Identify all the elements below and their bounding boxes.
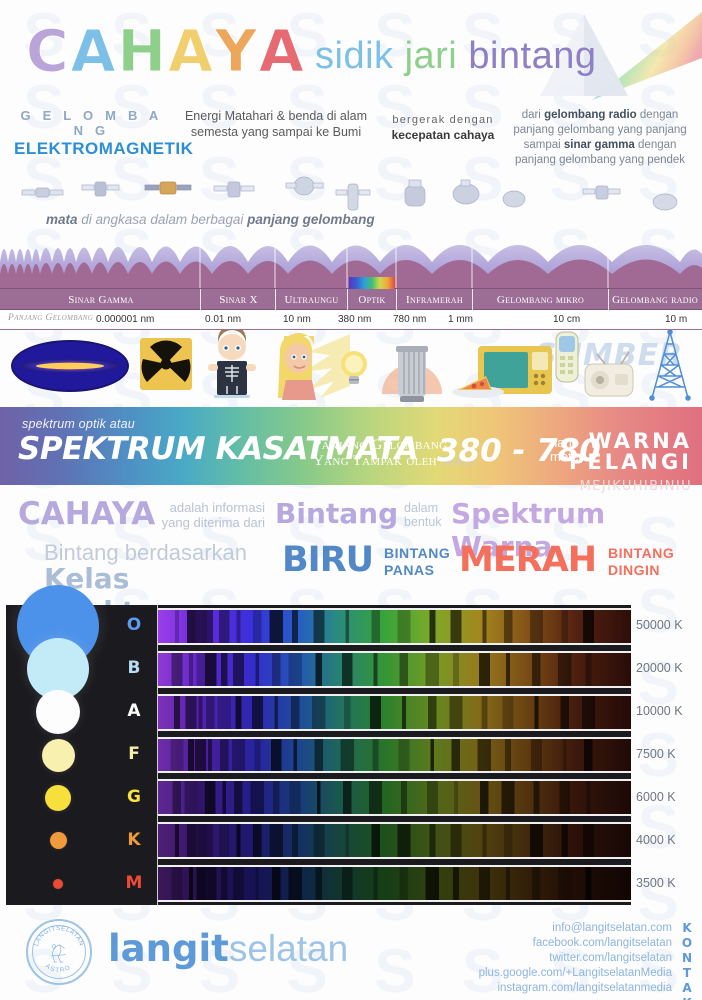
em-band-divider bbox=[396, 289, 397, 311]
em-band-ultraungu[interactable]: Ultraungu bbox=[276, 289, 347, 311]
langitselatan-seal-logo: LANGITSELATAN ASTRO bbox=[26, 919, 92, 985]
title-letter: A bbox=[259, 22, 306, 80]
mata-angkasa-caption: mata di angkasa dalam berbagai panjang g… bbox=[46, 212, 375, 227]
star-disc-K bbox=[50, 832, 67, 849]
subtitle-word: sidik bbox=[315, 35, 405, 77]
title-letter: H bbox=[117, 22, 168, 80]
bintang-panas-label: BINTANG PANAS bbox=[384, 545, 450, 579]
em-band-sinar-gamma[interactable]: Sinar Gamma bbox=[2, 289, 200, 311]
contact-list[interactable]: info@langitselatan.comfacebook.com/langi… bbox=[479, 921, 672, 996]
subtitle-word: jari bbox=[405, 35, 469, 77]
intro-text-row: G E L O M B A N G ELEKTROMAGNETIK Energi… bbox=[0, 104, 702, 176]
spectral-class-column: OBAFGKM bbox=[110, 605, 158, 905]
speed-line2: kecepatan cahaya bbox=[383, 128, 503, 143]
kontak-letter: A bbox=[678, 981, 696, 996]
radio-desc-line: panjang gelombang yang panjang bbox=[505, 123, 695, 138]
wavelength-value: 10 m bbox=[665, 314, 687, 325]
sunbathing-woman-icon bbox=[278, 333, 350, 400]
microwave-oven-icon bbox=[452, 346, 552, 398]
wavelength-value: 1 mm bbox=[448, 314, 473, 325]
page-header: CAHAYA sidik jari bintang bbox=[0, 0, 702, 100]
spectrum-strip-F[interactable] bbox=[158, 737, 631, 774]
info-dalam-bentuk: dalam bentuk bbox=[404, 501, 442, 529]
radio-receiver-icon bbox=[585, 352, 633, 396]
kontak-letter: T bbox=[678, 966, 696, 981]
page-title: CAHAYA bbox=[26, 22, 306, 80]
panjang-gelombang-word: panjang gelombang bbox=[247, 212, 375, 227]
contact-link[interactable]: twitter.com/langitselatan bbox=[479, 951, 672, 966]
em-band-divider bbox=[200, 289, 201, 311]
em-band-divider bbox=[608, 289, 609, 311]
kontak-letter: K bbox=[678, 921, 696, 936]
energy-description: Energi Matahari & benda di alam semesta … bbox=[176, 108, 376, 140]
wavelength-value: 0.01 nm bbox=[205, 314, 241, 325]
wavelength-value: 10 nm bbox=[283, 314, 311, 325]
svg-text:LANGITSELATAN: LANGITSELATAN bbox=[33, 925, 85, 947]
wavelength-value: 0.000001 nm bbox=[96, 314, 154, 325]
seal-bottom-text: ASTRO bbox=[44, 963, 72, 974]
em-band-gelombang-mikro[interactable]: Gelombang mikro bbox=[473, 289, 608, 311]
spectrum-strip-O[interactable] bbox=[158, 608, 631, 645]
electromagnetic-heading: G E L O M B A N G ELEKTROMAGNETIK bbox=[14, 108, 169, 159]
light-info-row: CAHAYA adalah informasi yang diterima da… bbox=[0, 494, 702, 542]
title-cahaya: CAHAYA bbox=[26, 22, 306, 80]
absorption-lines bbox=[158, 781, 631, 814]
spectral-class-F: F bbox=[110, 744, 158, 764]
adalah-line2: yang diterima dari bbox=[157, 515, 265, 530]
warna-line2: PELANGI bbox=[569, 452, 692, 473]
heater-icon bbox=[382, 346, 442, 402]
rainbow-color-label: WARNA PELANGI MEJIKUHIBINIU bbox=[569, 431, 692, 497]
absorption-lines bbox=[158, 824, 631, 857]
spectrum-strip-B[interactable] bbox=[158, 651, 631, 688]
spectral-class-A: A bbox=[110, 701, 158, 721]
mata-mid: di angkasa dalam berbagai bbox=[78, 212, 248, 227]
radio-gamma-description: dari gelombang radio denganpanjang gelom… bbox=[505, 108, 695, 168]
visible-spectrum-small-label: spektrum optik atau bbox=[22, 417, 135, 431]
temperature-label-A: 10000 K bbox=[636, 704, 700, 718]
mata-word: mata bbox=[46, 212, 78, 227]
visible-spectrum-banner: spektrum optik atau SPEKTRUM KASATMATA P… bbox=[0, 407, 702, 485]
mobile-phone-icon bbox=[556, 332, 578, 382]
source-icons-row bbox=[0, 330, 702, 402]
subtitle-word: bintang bbox=[468, 35, 596, 77]
title-letter: A bbox=[71, 22, 118, 80]
title-letter: C bbox=[26, 22, 71, 80]
star-disc-M bbox=[53, 879, 63, 889]
em-band-divider bbox=[472, 289, 473, 311]
spectral-class-G: G bbox=[110, 787, 158, 807]
info-cahaya: CAHAYA bbox=[18, 496, 155, 532]
kontak-letter: N bbox=[678, 951, 696, 966]
title-letter: A bbox=[168, 22, 215, 80]
em-band-inframerah[interactable]: Inframerah bbox=[397, 289, 472, 311]
logo-light: selatan bbox=[229, 928, 348, 969]
contact-link[interactable]: plus.google.com/+LangitselatanMedia bbox=[479, 966, 672, 981]
radio-desc-line: dari gelombang radio dengan bbox=[505, 108, 695, 123]
star-disc-F bbox=[42, 739, 75, 772]
radio-desc-line: panjang gelombang yang pendek bbox=[505, 153, 695, 168]
bp-line1: BINTANG bbox=[384, 545, 450, 562]
adalah-line1: adalah informasi bbox=[157, 500, 265, 515]
dalam-line2: bentuk bbox=[404, 515, 442, 529]
info-adalah: adalah informasi yang diterima dari bbox=[157, 500, 265, 530]
spectral-class-M: M bbox=[110, 873, 158, 893]
absorption-lines bbox=[158, 739, 631, 772]
temperature-label-F: 7500 K bbox=[636, 747, 700, 761]
info-bintang: Bintang bbox=[275, 497, 398, 530]
absorption-lines bbox=[158, 653, 631, 686]
spectrum-strip-G[interactable] bbox=[158, 779, 631, 816]
infographic-page: SSSSSSSSSSSSSSSSSSSSSSSSSSSSSSSSSSSSSSSS… bbox=[0, 0, 702, 1000]
radio-tower-icon bbox=[650, 330, 690, 400]
optical-rainbow-chip bbox=[349, 277, 395, 289]
temperature-label-M: 3500 K bbox=[636, 876, 700, 890]
em-heading-line1: G E L O M B A N G bbox=[14, 108, 169, 138]
radio-desc-line: sampai sinar gamma dengan bbox=[505, 138, 695, 153]
page-subtitle: sidik jari bintang bbox=[315, 34, 596, 78]
wavelength-scale-row: Panjang Gelombang 0.000001 nm0.01 nm10 n… bbox=[0, 310, 702, 330]
contact-link[interactable]: info@langitselatan.com bbox=[479, 921, 672, 936]
temperature-label-G: 6000 K bbox=[636, 790, 700, 804]
kontak-vertical-label: KONTAK bbox=[678, 921, 696, 1000]
title-letter: Y bbox=[215, 22, 259, 80]
spectrum-strip-A[interactable] bbox=[158, 694, 631, 731]
star-disc-G bbox=[45, 785, 71, 811]
bd-line2: DINGIN bbox=[608, 562, 674, 579]
radiation-hazard-icon bbox=[140, 338, 192, 390]
svg-text:ASTRO: ASTRO bbox=[44, 963, 72, 974]
kontak-letter: O bbox=[678, 936, 696, 951]
star-disc-A bbox=[36, 690, 80, 734]
spectral-class-K: K bbox=[110, 830, 158, 850]
spectrum-strip-K[interactable] bbox=[158, 822, 631, 859]
gamma-sky-map-icon bbox=[11, 340, 129, 392]
em-band-gelombang-radio[interactable]: Gelombang radio bbox=[609, 289, 701, 311]
absorption-lines bbox=[158, 610, 631, 643]
contact-link[interactable]: instagram.com/langitselatanmedia bbox=[479, 981, 672, 996]
wavelength-caption: Panjang Gelombang bbox=[8, 313, 93, 323]
temperature-label-B: 20000 K bbox=[636, 661, 700, 675]
wavelength-value: 780 nm bbox=[393, 314, 426, 325]
em-heading-line2: ELEKTROMAGNETIK bbox=[14, 139, 169, 159]
merah-label: MERAH bbox=[459, 540, 596, 580]
star-size-column bbox=[6, 605, 110, 905]
temperature-label-O: 50000 K bbox=[636, 618, 700, 632]
kontak-letter: K bbox=[678, 996, 696, 1000]
bp-line2: PANAS bbox=[384, 562, 450, 579]
absorption-lines bbox=[158, 867, 631, 900]
spectral-class-O: O bbox=[110, 615, 158, 635]
temperature-label-K: 4000 K bbox=[636, 833, 700, 847]
em-band-sinar-x[interactable]: Sinar X bbox=[202, 289, 275, 311]
biru-label: BIRU bbox=[282, 540, 373, 580]
contact-link[interactable]: facebook.com/langitselatan bbox=[479, 936, 672, 951]
bintang-dingin-label: BINTANG DINGIN bbox=[608, 545, 674, 579]
wavelength-value: 380 nm bbox=[338, 314, 371, 325]
speed-description: bergerak dengan kecepatan cahaya bbox=[383, 113, 503, 143]
speed-line1: bergerak dengan bbox=[383, 113, 503, 128]
xray-child-icon bbox=[208, 330, 256, 398]
logo-bold: langit bbox=[108, 927, 229, 970]
em-spectrum-bar[interactable]: Sinar GammaSinar XUltraunguOptikInframer… bbox=[0, 288, 702, 310]
dalam-line1: dalam bbox=[404, 501, 442, 515]
spectrum-strip-M[interactable] bbox=[158, 865, 631, 902]
langitselatan-wordmark: langitselatan bbox=[108, 927, 348, 971]
spectral-class-intro-row: Bintang berdasarkan Kelas Spektrum BIRU … bbox=[0, 538, 702, 593]
em-band-divider bbox=[347, 289, 348, 311]
em-band-optik[interactable]: Optik bbox=[348, 289, 396, 311]
spectral-class-B: B bbox=[110, 658, 158, 678]
warna-line1: WARNA bbox=[569, 431, 692, 452]
wavelength-value: 10 cm bbox=[553, 314, 580, 325]
bd-line1: BINTANG bbox=[608, 545, 674, 562]
page-footer: LANGITSELATAN ASTRO langitselatan info@l… bbox=[0, 905, 702, 1000]
absorption-lines bbox=[158, 696, 631, 729]
em-band-divider bbox=[275, 289, 276, 311]
spectral-class-chart: OBAFGKM 50000 K20000 K10000 K7500 K6000 … bbox=[0, 605, 702, 905]
seal-top-text: LANGITSELATAN bbox=[33, 925, 85, 947]
